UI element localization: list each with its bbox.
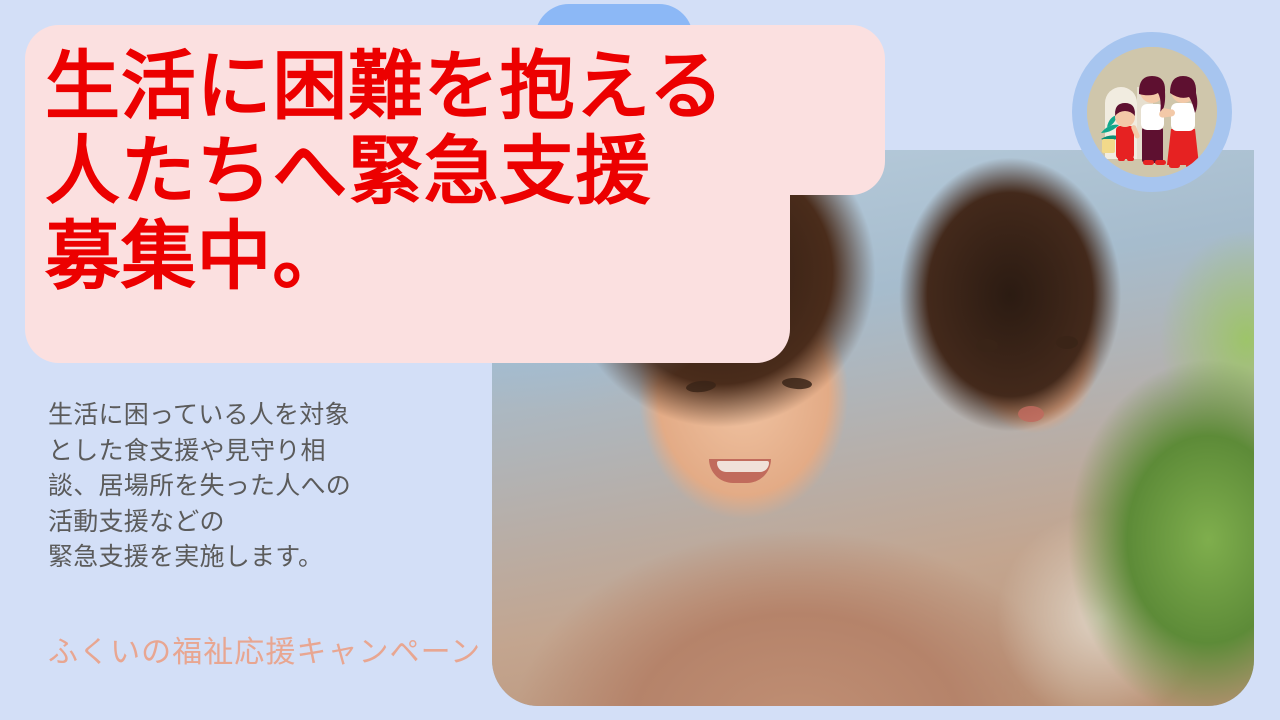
- page-title: 生活に困難を抱える 人たちへ緊急支援 募集中。: [45, 44, 905, 298]
- photo-detail-eye: [976, 339, 998, 352]
- community-support-badge: [1072, 32, 1232, 192]
- campaign-tagline: ふくいの福祉応援キャンペーン: [48, 627, 481, 671]
- photo-detail-mouth: [1018, 406, 1044, 422]
- poster-canvas: 生活に困難を抱える 人たちへ緊急支援 募集中。 生活に困っている人を対象 とした…: [0, 0, 1280, 720]
- three-people-illustration-icon: [1087, 47, 1217, 177]
- community-support-illustration-icon: [1087, 47, 1217, 177]
- photo-detail-teeth: [717, 461, 769, 472]
- body-description: 生活に困っている人を対象 とした食支援や見守り相 談、居場所を失った人への 活動…: [48, 398, 448, 576]
